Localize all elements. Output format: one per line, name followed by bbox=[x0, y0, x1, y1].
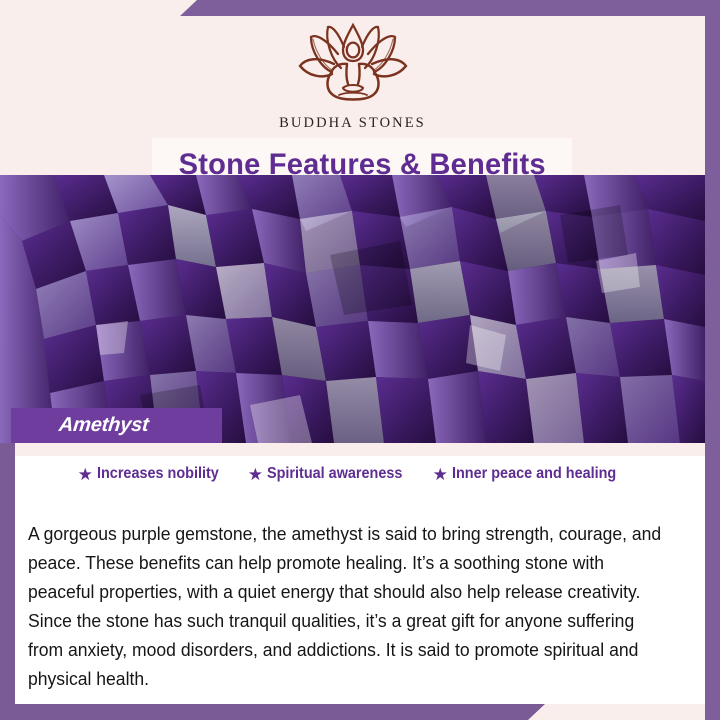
star-icon: ★ bbox=[433, 466, 448, 483]
header: BUDDHA STONES Stone Features & Benefits bbox=[0, 16, 705, 175]
star-icon: ★ bbox=[78, 466, 93, 483]
star-icon: ★ bbox=[248, 466, 263, 483]
frame-band-right bbox=[705, 0, 720, 720]
benefits-list: ★ Increases nobility ★ Spiritual awarene… bbox=[15, 465, 691, 483]
content-panel: ★ Increases nobility ★ Spiritual awarene… bbox=[15, 456, 705, 704]
amethyst-photo bbox=[0, 175, 705, 443]
benefit-item-2: ★ Inner peace and healing bbox=[433, 465, 629, 483]
frame-band-bottom bbox=[0, 704, 545, 720]
frame-band-top bbox=[180, 0, 720, 16]
frame-band-left bbox=[0, 443, 15, 705]
brand-logo: BUDDHA STONES bbox=[0, 16, 705, 132]
benefit-label: Inner peace and healing bbox=[452, 465, 616, 483]
description-text: A gorgeous purple gemstone, the amethyst… bbox=[28, 520, 673, 694]
benefit-item-0: ★ Increases nobility bbox=[78, 465, 228, 483]
infographic-page: BUDDHA STONES Stone Features & Benefits bbox=[0, 0, 720, 720]
benefit-label: Increases nobility bbox=[97, 465, 219, 483]
brand-name: BUDDHA STONES bbox=[0, 115, 705, 132]
lotus-meditation-icon bbox=[291, 22, 415, 108]
benefit-item-1: ★ Spiritual awareness bbox=[248, 465, 413, 483]
stone-name: Amethyst bbox=[58, 414, 150, 437]
benefit-label: Spiritual awareness bbox=[267, 465, 402, 483]
panel-top-strip bbox=[15, 443, 705, 456]
stone-name-tag: Amethyst bbox=[11, 408, 222, 443]
